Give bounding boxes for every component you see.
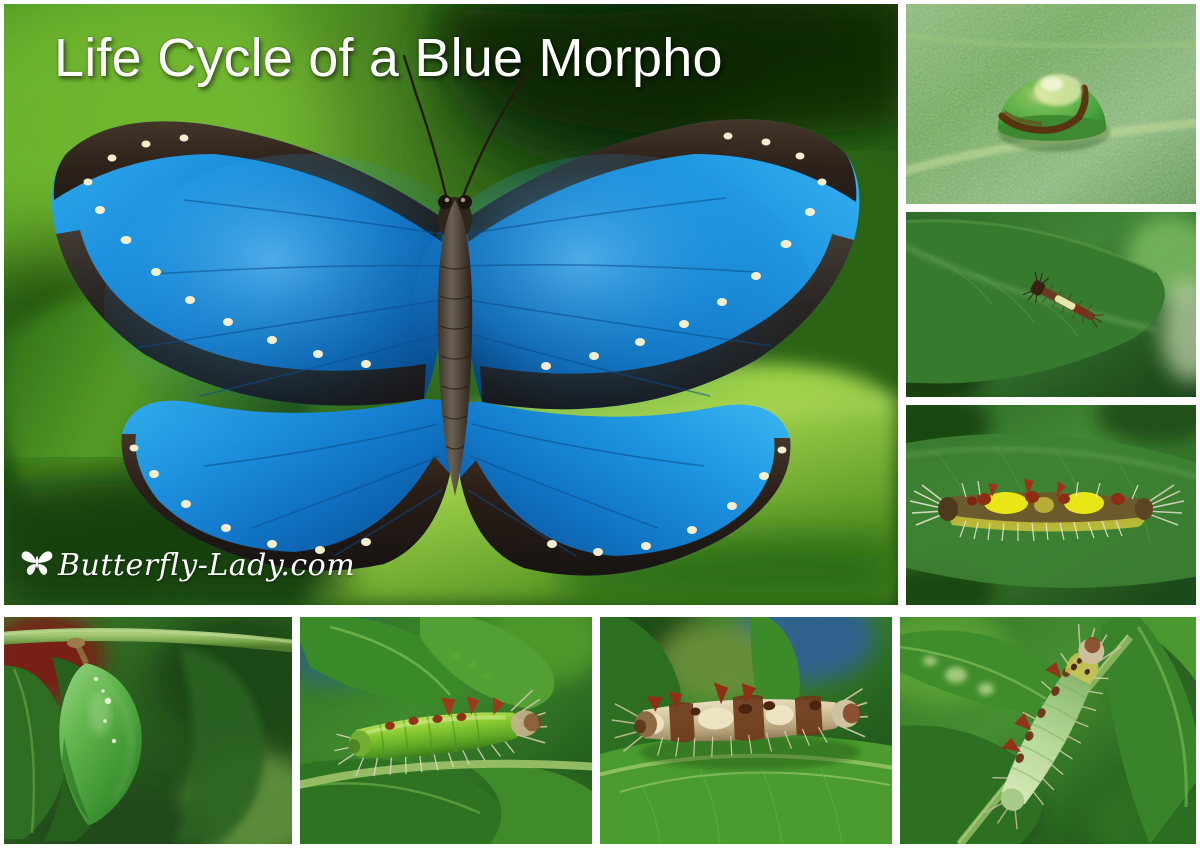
photo-mature-caterpillar-yellow-patches: [906, 405, 1196, 605]
photo-cell-main-butterfly[interactable]: Life Cycle of a Blue Morpho Butterfly-La…: [4, 4, 898, 605]
photo-cell-green-larva[interactable]: [300, 617, 592, 844]
photo-cell-chrysalis[interactable]: [4, 617, 292, 844]
photo-newly-hatched-caterpillar: [906, 212, 1196, 397]
photo-cell-hatchling[interactable]: [906, 212, 1196, 397]
photo-brown-banded-caterpillar: [600, 617, 892, 844]
photo-adult-blue-morpho-butterfly: [4, 4, 898, 605]
photo-pale-green-caterpillar-on-stem: [900, 617, 1196, 844]
photo-cell-egg[interactable]: [906, 4, 1196, 204]
photo-cell-mature-larva[interactable]: [906, 405, 1196, 605]
photo-butterfly-egg: [906, 4, 1196, 204]
photo-green-chrysalis: [4, 617, 292, 844]
butterfly-life-cycle-collage: Life Cycle of a Blue Morpho Butterfly-La…: [0, 0, 1200, 848]
photo-cell-pale-larva[interactable]: [900, 617, 1196, 844]
photo-cell-brown-larva[interactable]: [600, 617, 892, 844]
photo-green-spiky-caterpillar: [300, 617, 592, 844]
